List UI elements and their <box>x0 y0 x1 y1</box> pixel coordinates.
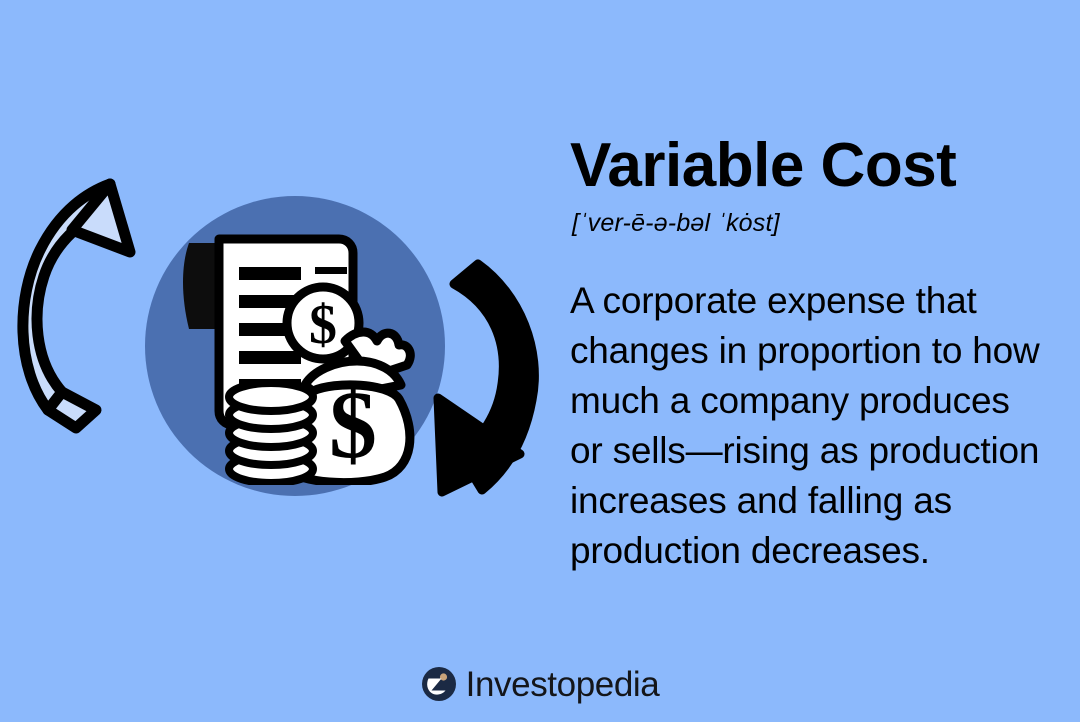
svg-text:$: $ <box>309 294 337 356</box>
text-column: Variable Cost [ˈver-ē-ə-bəl ˈkȯst] A cor… <box>570 134 1040 576</box>
investopedia-logo: Investopedia <box>0 666 1080 702</box>
svg-text:$: $ <box>329 371 377 478</box>
term-definition: A corporate expense that changes in prop… <box>570 276 1040 576</box>
money-illustration: $ $ <box>175 225 425 485</box>
investopedia-wordmark: Investopedia <box>466 667 660 702</box>
coin-stack-icon <box>229 383 313 483</box>
curved-down-arrow-icon <box>420 258 550 498</box>
curved-up-arrow-icon <box>10 178 140 418</box>
investopedia-mark-icon <box>421 666 457 702</box>
term-pronunciation: [ˈver-ē-ə-bəl ˈkȯst] <box>572 209 1040 238</box>
term-title: Variable Cost <box>570 134 1040 197</box>
definition-card: $ $ Variable Cost [ˈver-ē-ə-bəl ˈkȯst] A… <box>0 0 1080 722</box>
illustration-group: $ $ <box>0 150 560 550</box>
